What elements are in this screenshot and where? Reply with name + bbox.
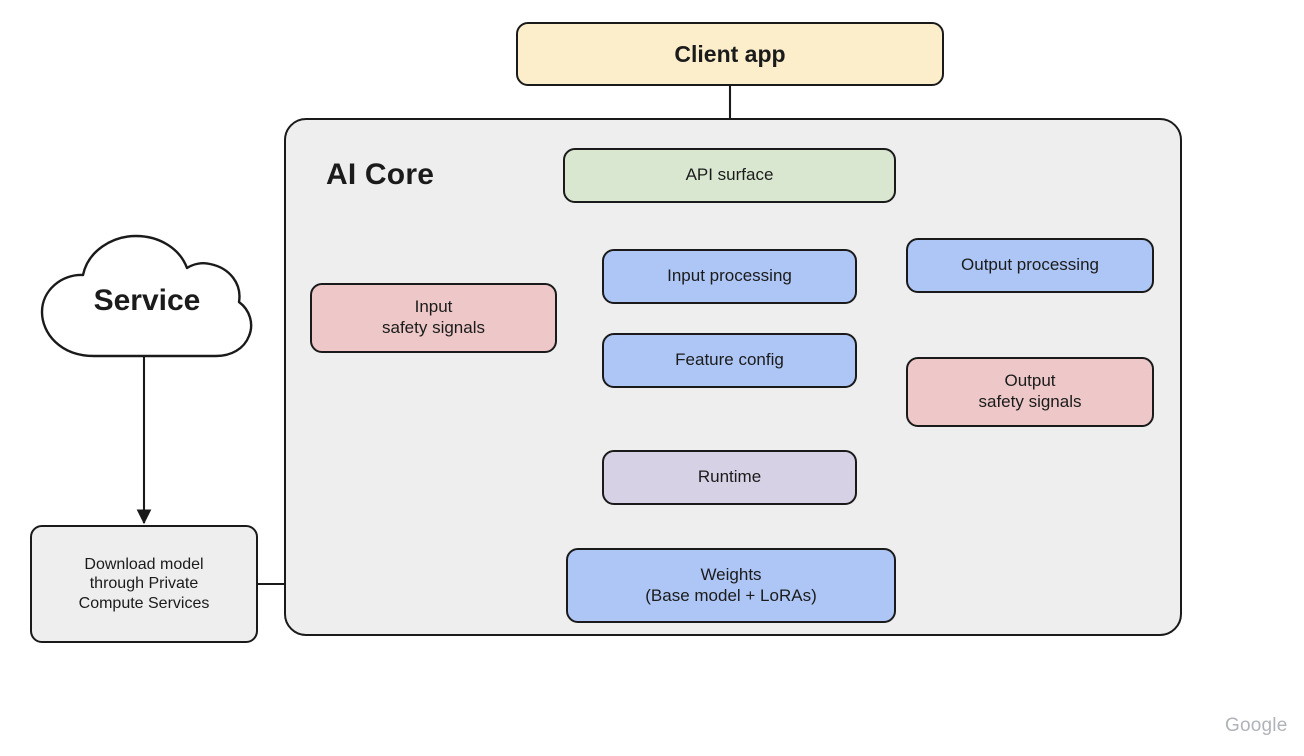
node-weights[interactable]: Weights (Base model + LoRAs)	[566, 548, 896, 623]
node-input-processing-label: Input processing	[667, 266, 792, 287]
service-cloud-label: Service	[36, 284, 258, 318]
node-output-processing-label: Output processing	[961, 255, 1099, 276]
node-api-surface[interactable]: API surface	[563, 148, 896, 203]
node-download-model-label: Download model through Private Compute S…	[79, 555, 210, 614]
ai-core-title: AI Core	[326, 158, 434, 192]
node-api-surface-label: API surface	[686, 165, 774, 186]
google-watermark: Google	[1225, 715, 1287, 737]
node-download-model[interactable]: Download model through Private Compute S…	[30, 525, 258, 643]
node-runtime[interactable]: Runtime	[602, 450, 857, 505]
diagram-canvas: AI Core Service	[0, 0, 1304, 756]
node-client-app[interactable]: Client app	[516, 22, 944, 86]
node-client-app-label: Client app	[674, 40, 785, 68]
node-input-processing[interactable]: Input processing	[602, 249, 857, 304]
node-weights-label: Weights (Base model + LoRAs)	[645, 565, 817, 606]
node-output-safety-signals[interactable]: Output safety signals	[906, 357, 1154, 427]
node-runtime-label: Runtime	[698, 467, 761, 488]
node-output-safety-signals-label: Output safety signals	[979, 371, 1082, 412]
service-cloud: Service	[36, 232, 258, 360]
node-feature-config[interactable]: Feature config	[602, 333, 857, 388]
node-output-processing[interactable]: Output processing	[906, 238, 1154, 293]
node-input-safety-signals-label: Input safety signals	[382, 297, 485, 338]
node-feature-config-label: Feature config	[675, 350, 784, 371]
node-input-safety-signals[interactable]: Input safety signals	[310, 283, 557, 353]
